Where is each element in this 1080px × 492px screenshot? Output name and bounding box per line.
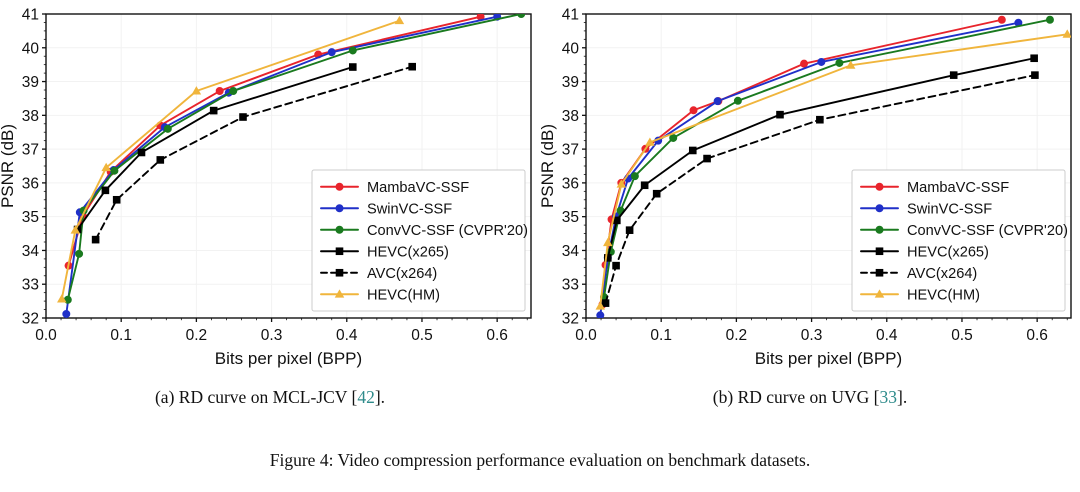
legend-label: SwinVC-SSF <box>367 202 452 218</box>
data-point <box>998 16 1005 23</box>
data-point <box>111 167 118 174</box>
x-tick-label: 0.5 <box>411 327 433 344</box>
legend-marker <box>876 248 883 255</box>
legend-marker <box>876 269 883 276</box>
y-tick-label: 35 <box>562 209 579 226</box>
x-tick-label: 0.0 <box>575 327 597 344</box>
data-point <box>689 147 696 154</box>
x-tick-label: 0.4 <box>336 327 358 344</box>
legend-marker <box>336 248 343 255</box>
legend-label: HEVC(HM) <box>907 288 980 304</box>
legend-marker <box>336 269 343 276</box>
data-point <box>349 64 356 71</box>
subcaption-b-text: (b) RD curve on UVG [ <box>713 387 880 407</box>
data-point <box>1031 55 1038 62</box>
y-tick-label: 33 <box>22 277 39 294</box>
chart-panel-uvg: 323334353637383940410.00.10.20.30.40.50.… <box>540 0 1080 380</box>
legend-marker <box>336 183 343 190</box>
legend-marker <box>876 226 883 233</box>
data-point <box>631 173 638 180</box>
rd-curve-chart-uvg: 323334353637383940410.00.10.20.30.40.50.… <box>540 0 1080 380</box>
y-tick-label: 35 <box>22 209 39 226</box>
legend-label: HEVC(x265) <box>907 245 989 261</box>
chart-panel-mcl-jcv: 323334353637383940410.00.10.20.30.40.50.… <box>0 0 540 380</box>
data-point <box>216 88 223 95</box>
x-tick-label: 0.1 <box>110 327 132 344</box>
subcaption-b-citation[interactable]: 33 <box>880 387 898 407</box>
data-point <box>714 98 721 105</box>
chart-legend[interactable]: MambaVC-SSFSwinVC-SSFConvVC-SSF (CVPR'20… <box>852 170 1068 311</box>
data-point <box>1046 16 1053 23</box>
figure-caption: Figure 4: Video compression performance … <box>0 440 1080 480</box>
x-tick-label: 0.6 <box>486 327 508 344</box>
legend-label: MambaVC-SSF <box>367 180 469 196</box>
data-point <box>164 125 171 132</box>
y-tick-label: 39 <box>562 74 579 91</box>
data-point <box>602 300 609 307</box>
y-tick-label: 41 <box>22 7 39 24</box>
y-tick-label: 37 <box>22 142 39 159</box>
y-tick-label: 40 <box>562 40 580 57</box>
x-tick-label: 0.2 <box>186 327 208 344</box>
subcaption-b-suffix: ]. <box>897 387 907 407</box>
legend-label: MambaVC-SSF <box>907 180 1009 196</box>
data-point <box>518 11 525 18</box>
data-point <box>102 187 109 194</box>
subcaption-a: (a) RD curve on MCL-JCV [42]. <box>0 380 540 414</box>
data-point <box>76 250 83 257</box>
data-point <box>210 107 217 114</box>
data-point <box>734 97 741 104</box>
data-point <box>817 116 824 123</box>
x-tick-label: 0.5 <box>951 327 973 344</box>
data-point <box>230 88 237 95</box>
y-tick-label: 34 <box>22 243 40 260</box>
data-point <box>240 114 247 121</box>
data-point <box>614 217 621 224</box>
x-tick-label: 0.6 <box>1026 327 1048 344</box>
legend-label: HEVC(HM) <box>367 288 440 304</box>
data-point <box>818 58 825 65</box>
chart-legend[interactable]: MambaVC-SSFSwinVC-SSFConvVC-SSF (CVPR'20… <box>312 170 528 311</box>
data-point <box>613 262 620 269</box>
legend-label: AVC(x264) <box>907 266 977 282</box>
data-point <box>92 236 99 243</box>
x-tick-label: 0.1 <box>650 327 672 344</box>
data-point <box>328 49 335 56</box>
y-tick-label: 37 <box>562 142 579 159</box>
legend-marker <box>336 205 343 212</box>
legend-marker <box>876 183 883 190</box>
x-tick-label: 0.2 <box>726 327 748 344</box>
subcaption-a-citation[interactable]: 42 <box>357 387 375 407</box>
data-point <box>138 149 145 156</box>
figure-4: 323334353637383940410.00.10.20.30.40.50.… <box>0 0 1080 492</box>
x-tick-label: 0.0 <box>35 327 57 344</box>
y-tick-label: 33 <box>562 277 579 294</box>
y-tick-label: 36 <box>22 175 39 192</box>
data-point <box>113 196 120 203</box>
data-point <box>1032 72 1039 79</box>
data-point <box>349 47 356 54</box>
subcaption-a-text: (a) RD curve on MCL-JCV [ <box>155 387 357 407</box>
data-point <box>704 155 711 162</box>
data-point <box>777 111 784 118</box>
rd-curve-chart-mcl-jcv: 323334353637383940410.00.10.20.30.40.50.… <box>0 0 540 380</box>
x-tick-label: 0.3 <box>801 327 823 344</box>
y-tick-label: 34 <box>562 243 580 260</box>
data-point <box>690 107 697 114</box>
data-point <box>157 157 164 164</box>
legend-label: HEVC(x265) <box>367 245 449 261</box>
data-point <box>63 310 70 317</box>
y-tick-label: 36 <box>562 175 579 192</box>
legend-marker <box>336 226 343 233</box>
x-tick-label: 0.4 <box>876 327 898 344</box>
y-tick-label: 38 <box>22 108 39 125</box>
data-point <box>597 312 604 319</box>
data-point <box>836 59 843 66</box>
y-axis-label: PSNR (dB) <box>0 124 17 208</box>
data-point <box>626 227 633 234</box>
legend-label: ConvVC-SSF (CVPR'20) <box>367 223 528 239</box>
y-tick-label: 41 <box>562 7 579 24</box>
y-tick-label: 38 <box>562 108 579 125</box>
subcaption-a-suffix: ]. <box>375 387 385 407</box>
y-tick-label: 32 <box>22 311 39 328</box>
legend-label: AVC(x264) <box>367 266 437 282</box>
data-point <box>950 72 957 79</box>
data-point <box>653 190 660 197</box>
y-tick-label: 32 <box>562 311 579 328</box>
legend-label: ConvVC-SSF (CVPR'20) <box>907 223 1068 239</box>
y-tick-label: 40 <box>22 40 40 57</box>
data-point <box>801 60 808 67</box>
subcaption-b: (b) RD curve on UVG [33]. <box>540 380 1080 414</box>
y-tick-label: 39 <box>22 74 39 91</box>
x-axis-label: Bits per pixel (BPP) <box>755 349 902 368</box>
legend-marker <box>876 205 883 212</box>
legend-label: SwinVC-SSF <box>907 202 992 218</box>
y-axis-label: PSNR (dB) <box>540 124 557 208</box>
x-tick-label: 0.3 <box>261 327 283 344</box>
data-point <box>641 182 648 189</box>
panels-row: 323334353637383940410.00.10.20.30.40.50.… <box>0 0 1080 380</box>
data-point <box>396 17 404 24</box>
data-point <box>409 63 416 70</box>
x-axis-label: Bits per pixel (BPP) <box>215 349 362 368</box>
data-point <box>670 134 677 141</box>
